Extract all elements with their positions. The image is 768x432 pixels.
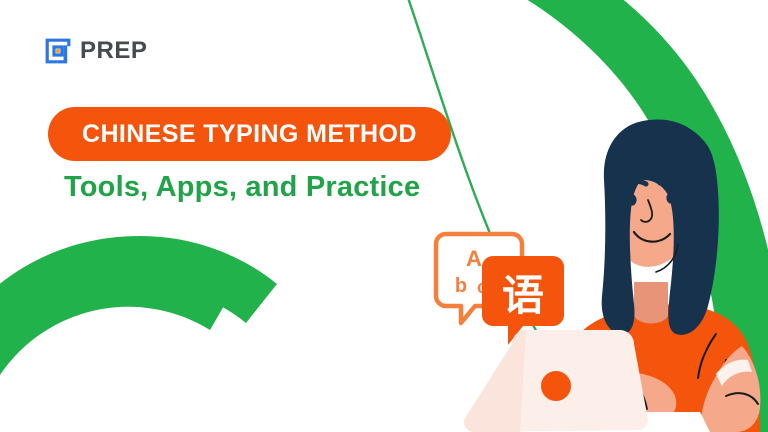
neck: [634, 282, 668, 324]
prep-course-banner: A b c 语: [0, 0, 768, 432]
eye-left: [627, 194, 636, 205]
title-pill: CHINESE TYPING METHOD: [48, 107, 451, 161]
subtitle-text: Tools, Apps, and Practice: [64, 169, 420, 207]
prep-logo[interactable]: PREP: [43, 36, 147, 66]
eye-right: [666, 192, 675, 203]
laptop-logo-icon: [541, 371, 571, 401]
svg-text:b: b: [455, 275, 467, 297]
svg-text:语: 语: [502, 271, 544, 320]
prep-square-bracket-logo-icon: [43, 36, 73, 66]
svg-text:A: A: [466, 246, 482, 271]
laptop-lid-left-panel: [464, 330, 526, 432]
prep-logo-text: PREP: [80, 39, 147, 63]
title-text: CHINESE TYPING METHOD: [82, 122, 417, 147]
